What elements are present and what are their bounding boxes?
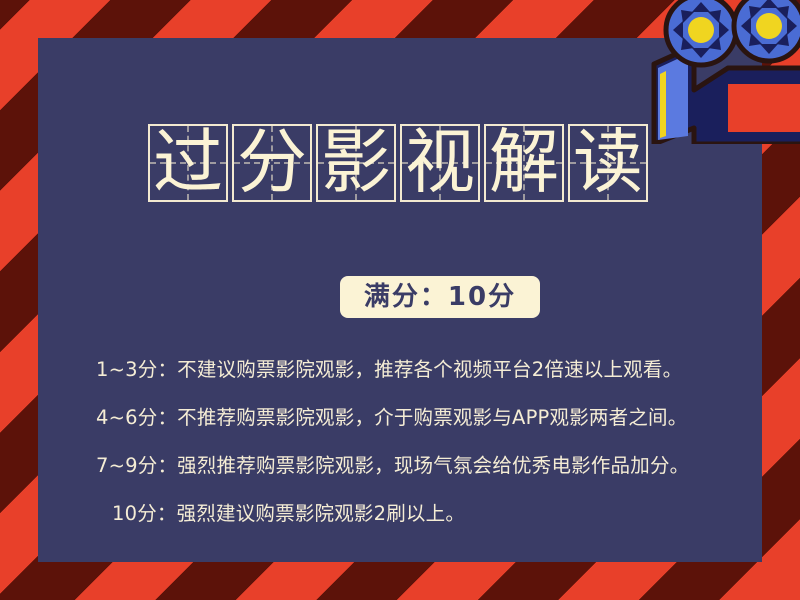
title-character: 视	[402, 126, 478, 200]
projector-label	[728, 84, 800, 132]
title-grid-cell: 视	[400, 124, 480, 202]
title-character: 读	[570, 126, 646, 200]
film-reel-right	[734, 0, 800, 61]
rating-scale-row: 1~3分： 不建议购票影院观影，推荐各个视频平台2倍速以上观看。	[96, 343, 796, 391]
rating-description: 不建议购票影院观影，推荐各个视频平台2倍速以上观看。	[177, 353, 682, 382]
rating-scale-list: 1~3分： 不建议购票影院观影，推荐各个视频平台2倍速以上观看。 4~6分： 不…	[96, 343, 796, 535]
title-grid-cell: 影	[316, 124, 396, 202]
rating-description: 强烈推荐购票影院观影，现场气氛会给优秀电影作品加分。	[177, 449, 689, 478]
rating-description: 不推荐购票影院观影，介于购票观影与APP观影两者之间。	[177, 401, 687, 430]
rating-range-label: 4~6分：	[96, 401, 177, 430]
title-character: 分	[234, 126, 310, 200]
max-score-label: 满分：10分	[364, 284, 516, 310]
film-reel-left	[666, 0, 736, 65]
rating-description: 强烈建议购票影院观影2刷以上。	[177, 497, 465, 526]
title-character: 解	[486, 126, 562, 200]
rating-range-label: 7~9分：	[96, 449, 177, 478]
title-grid-cell: 分	[232, 124, 312, 202]
rating-range-label: 10分：	[112, 497, 177, 526]
max-score-badge: 满分：10分	[340, 276, 540, 318]
page-title: 过 分 影 视 解	[148, 124, 648, 202]
title-grid-cell: 过	[148, 124, 228, 202]
rating-scale-row: 10分： 强烈建议购票影院观影2刷以上。	[96, 487, 796, 535]
film-projector-icon	[636, 0, 800, 144]
rating-scale-row: 7~9分： 强烈推荐购票影院观影，现场气氛会给优秀电影作品加分。	[96, 439, 796, 487]
title-character: 影	[318, 126, 394, 200]
title-grid-cell: 解	[484, 124, 564, 202]
rating-range-label: 1~3分：	[96, 353, 177, 382]
rating-scale-row: 4~6分： 不推荐购票影院观影，介于购票观影与APP观影两者之间。	[96, 391, 796, 439]
title-character: 过	[150, 126, 226, 200]
poster-stage: 过 分 影 视 解	[0, 0, 800, 600]
